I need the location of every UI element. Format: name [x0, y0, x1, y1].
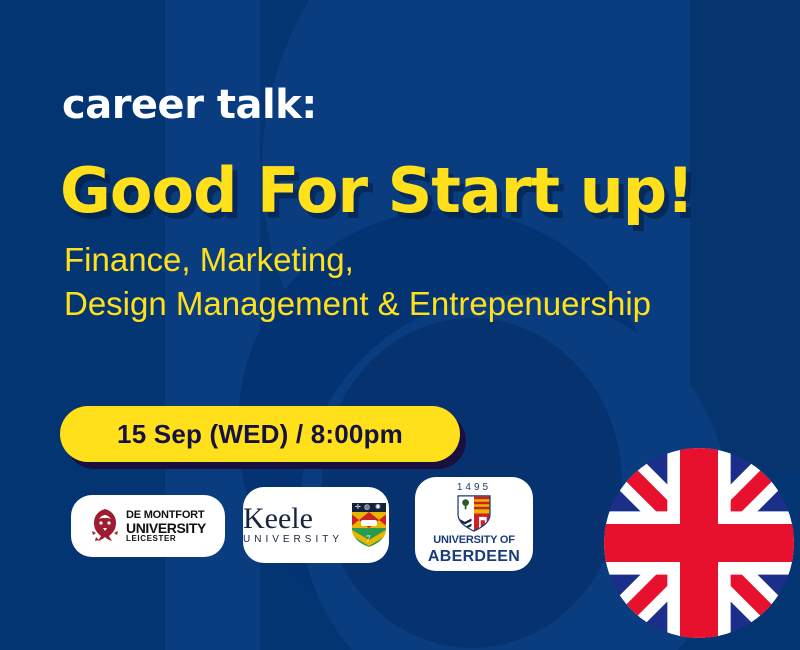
- aberdeen-line-2: ABERDEEN: [428, 548, 520, 566]
- subtitle-line-1: Finance, Marketing,: [64, 238, 651, 282]
- poster-canvas: career talk: Good For Start up! Finance,…: [0, 0, 800, 650]
- date-time-badge: 15 Sep (WED) / 8:00pm: [60, 406, 460, 462]
- aberdeen-line-1: UNIVERSITY OF: [433, 534, 515, 546]
- subtitle-block: Finance, Marketing, Design Management & …: [64, 238, 651, 326]
- svg-text:✺: ✺: [375, 503, 381, 511]
- dmu-line-1: DE MONTFORT: [126, 510, 206, 521]
- keele-crest-number: 7: [366, 534, 371, 544]
- date-badge-label: 15 Sep (WED) / 8:00pm: [117, 419, 403, 450]
- aberdeen-year: 1495: [457, 482, 491, 493]
- lion-icon: [90, 507, 120, 545]
- dmu-wordmark: DE MONTFORT UNIVERSITY LEICESTER: [126, 510, 206, 543]
- svg-text:◍: ◍: [364, 503, 370, 511]
- svg-text:✛: ✛: [355, 503, 361, 511]
- subtitle-line-2: Design Management & Entrepenuership: [64, 282, 651, 326]
- logo-keele-university: Keele UNIVERSITY: [248, 492, 384, 558]
- logo-university-of-aberdeen: 1495: [420, 482, 528, 566]
- uk-flag-icon: [604, 448, 794, 638]
- dmu-line-3: LEICESTER: [126, 535, 206, 543]
- keele-word: Keele: [243, 505, 343, 534]
- uk-flag-svg: [604, 448, 794, 638]
- kicker-text: career talk:: [62, 82, 317, 128]
- page-title: Good For Start up!: [60, 154, 693, 227]
- logo-de-montfort-university: DE MONTFORT UNIVERSITY LEICESTER: [76, 500, 220, 552]
- date-badge: 15 Sep (WED) / 8:00pm: [60, 406, 460, 462]
- dmu-line-2: UNIVERSITY: [126, 521, 206, 535]
- keele-subtext: UNIVERSITY: [243, 534, 343, 545]
- keele-wordmark: Keele UNIVERSITY: [243, 505, 343, 545]
- aberdeen-crest-icon: [453, 495, 495, 532]
- keele-crest-icon: ✛ ◍ ✺ 7: [349, 500, 389, 550]
